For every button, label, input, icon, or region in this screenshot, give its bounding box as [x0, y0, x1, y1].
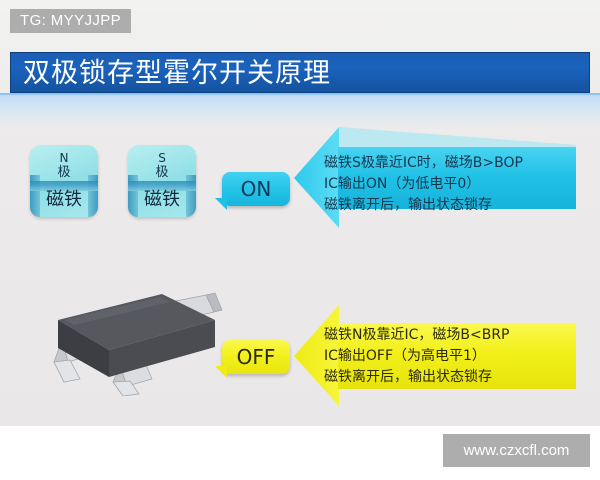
state-badge-on-label: ON [222, 172, 290, 206]
slide-title-bar: 双极锁存型霍尔开关原理 [10, 52, 590, 93]
bubble-tail [215, 366, 227, 378]
magnet-pole-word: 极 [128, 165, 196, 181]
callout-off-text: 磁铁N极靠近IC，磁场B<BRP IC输出OFF（为高电平1） 磁铁离开后，输出… [324, 325, 510, 388]
magnet-pole-letter: S [128, 151, 196, 166]
watermark-top-left: TG: MYYJJPP [10, 9, 131, 33]
slide-root: 双极锁存型霍尔开关原理 N 极 磁铁 S 极 磁铁 [0, 0, 600, 480]
hall-ic-svg [46, 278, 236, 396]
callout-on-line-2: IC输出ON（为低电平0） [324, 174, 523, 195]
state-badge-off: OFF [222, 340, 290, 374]
callout-on-line-3: 磁铁离开后，输出状态锁存 [324, 195, 523, 216]
slide-canvas: 双极锁存型霍尔开关原理 N 极 磁铁 S 极 磁铁 [0, 0, 600, 426]
hall-ic-package-image [46, 278, 236, 396]
state-badge-off-label: OFF [222, 340, 290, 374]
callout-on-line-1: 磁铁S极靠近IC时，磁场B>BOP [324, 153, 523, 174]
magnet-block-n: N 极 磁铁 [30, 145, 98, 217]
callout-off-line-1: 磁铁N极靠近IC，磁场B<BRP [324, 325, 510, 346]
title-underband-line [0, 93, 600, 95]
page-title: 双极锁存型霍尔开关原理 [23, 55, 331, 92]
watermark-bottom-right: www.czxcfl.com [443, 434, 590, 467]
magnet-block-s: S 极 磁铁 [128, 145, 196, 217]
magnet-pole-letter: N [30, 151, 98, 166]
magnet-material-label: 磁铁 [30, 189, 98, 211]
callout-off-line-3: 磁铁离开后，输出状态锁存 [324, 367, 510, 388]
callout-on-text: 磁铁S极靠近IC时，磁场B>BOP IC输出ON（为低电平0） 磁铁离开后，输出… [324, 153, 523, 216]
title-underband [0, 93, 600, 129]
callout-state-on: 磁铁S极靠近IC时，磁场B>BOP IC输出ON（为低电平0） 磁铁离开后，输出… [294, 127, 576, 228]
callout-state-off: 磁铁N极靠近IC，磁场B<BRP IC输出OFF（为高电平1） 磁铁离开后，输出… [294, 305, 576, 406]
magnet-pole-word: 极 [30, 165, 98, 181]
callout-off-line-2: IC输出OFF（为高电平1） [324, 346, 510, 367]
bubble-tail [215, 198, 227, 210]
magnet-material-label: 磁铁 [128, 189, 196, 211]
state-badge-on: ON [222, 172, 290, 206]
